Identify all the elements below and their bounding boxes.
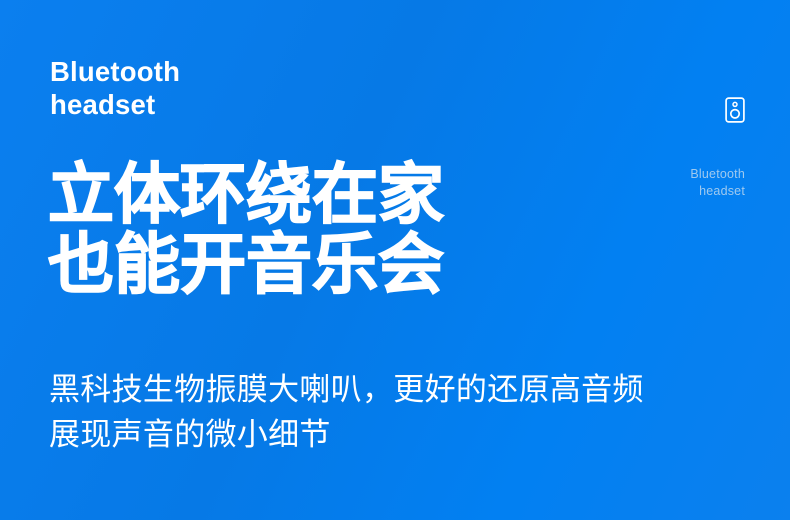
speaker-icon <box>725 97 745 123</box>
headline-line-2: 也能开音乐会 <box>48 230 444 300</box>
side-label: Bluetooth headset <box>585 166 745 199</box>
subtitle-line-2: 展现声音的微小细节 <box>49 413 644 458</box>
subtitle: 黑科技生物振膜大喇叭，更好的还原高音频 展现声音的微小细节 <box>49 368 644 458</box>
promo-banner: Bluetooth headset Bluetooth headset 立体环绕… <box>0 0 790 520</box>
eyebrow-heading: Bluetooth headset <box>50 55 180 121</box>
headline: 立体环绕在家 也能开音乐会 <box>48 160 444 300</box>
subtitle-line-1: 黑科技生物振膜大喇叭，更好的还原高音频 <box>49 368 644 413</box>
headline-line-1: 立体环绕在家 <box>48 160 444 230</box>
